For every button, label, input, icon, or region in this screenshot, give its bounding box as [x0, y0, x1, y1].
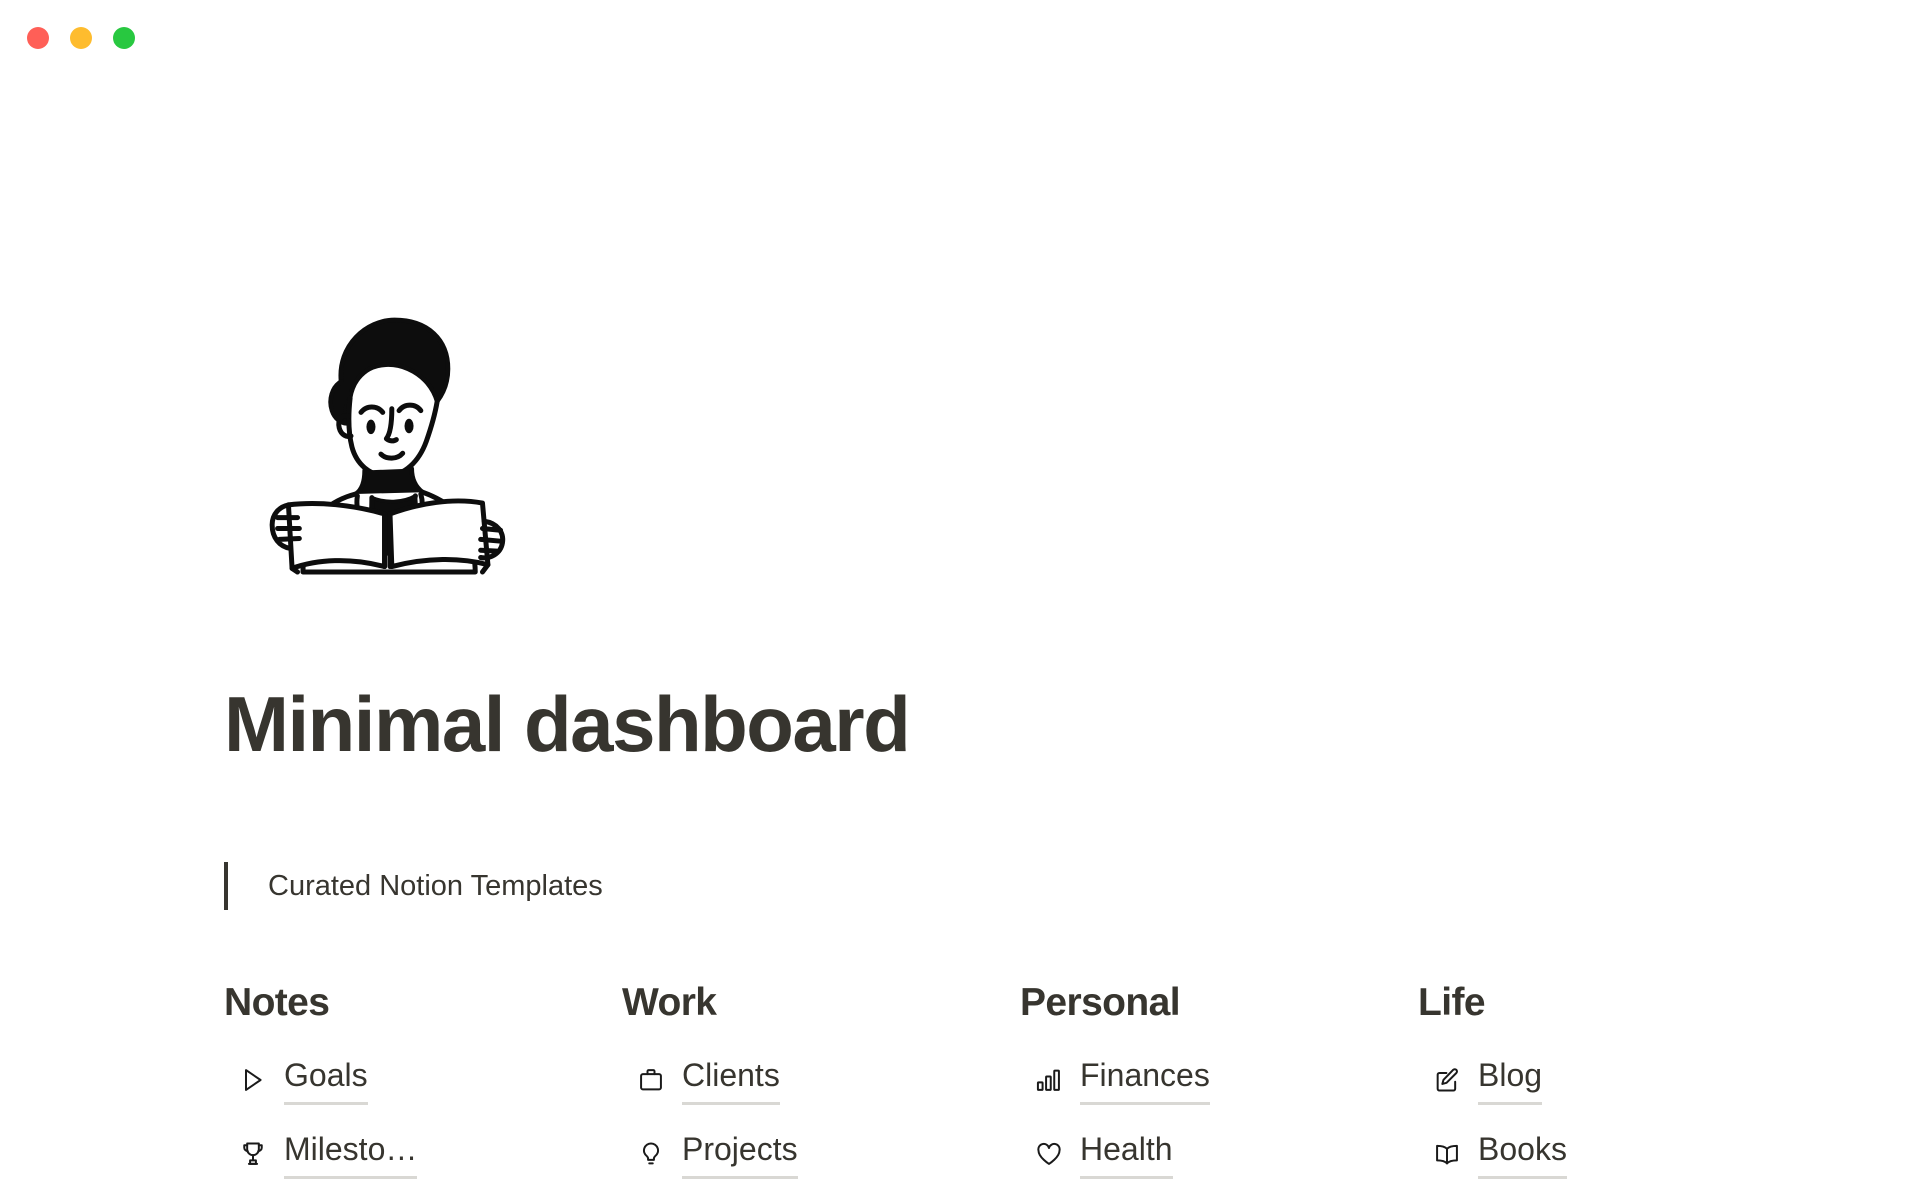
heart-icon [1032, 1137, 1066, 1171]
lightbulb-icon [634, 1137, 668, 1171]
close-window-button[interactable] [27, 27, 49, 49]
page-canvas: Minimal dashboard Curated Notion Templat… [0, 0, 1920, 1200]
trophy-icon [236, 1137, 270, 1171]
link-row-milestones[interactable]: Milesto… [236, 1129, 622, 1179]
triangle-play-icon [236, 1063, 270, 1097]
link-row-health[interactable]: Health [1032, 1129, 1418, 1179]
link-label-finances[interactable]: Finances [1080, 1055, 1210, 1105]
open-book-icon [1430, 1137, 1464, 1171]
maximize-window-button[interactable] [113, 27, 135, 49]
link-columns: Notes Goals [224, 978, 1888, 1203]
link-label-projects[interactable]: Projects [682, 1129, 798, 1179]
column-title-life: Life [1418, 978, 1816, 1028]
briefcase-icon [634, 1063, 668, 1097]
link-label-blog[interactable]: Blog [1478, 1055, 1542, 1105]
column-notes: Notes Goals [224, 978, 622, 1203]
column-personal: Personal Finances Health [1020, 978, 1418, 1203]
window-title-bar [0, 0, 1920, 74]
link-row-finances[interactable]: Finances [1032, 1055, 1418, 1105]
quote-text[interactable]: Curated Notion Templates [228, 862, 603, 910]
minimize-window-button[interactable] [70, 27, 92, 49]
link-label-goals[interactable]: Goals [284, 1055, 368, 1105]
traffic-light-controls [27, 27, 135, 49]
link-row-projects[interactable]: Projects [634, 1129, 1020, 1179]
link-label-books[interactable]: Books [1478, 1129, 1567, 1179]
link-row-books[interactable]: Books [1430, 1129, 1816, 1179]
person-reading-book-icon[interactable] [254, 292, 526, 580]
bar-chart-icon [1032, 1063, 1066, 1097]
link-label-milestones[interactable]: Milesto… [284, 1129, 417, 1179]
link-label-health[interactable]: Health [1080, 1129, 1173, 1179]
quote-block: Curated Notion Templates [224, 862, 603, 910]
page-title[interactable]: Minimal dashboard [224, 682, 909, 768]
link-row-blog[interactable]: Blog [1430, 1055, 1816, 1105]
column-life: Life Blog Books [1418, 978, 1816, 1203]
pencil-square-icon [1430, 1063, 1464, 1097]
column-work: Work Clients Projects [622, 978, 1020, 1203]
link-row-clients[interactable]: Clients [634, 1055, 1020, 1105]
column-title-personal: Personal [1020, 978, 1418, 1028]
link-row-goals[interactable]: Goals [236, 1055, 622, 1105]
column-title-notes: Notes [224, 978, 622, 1028]
link-label-clients[interactable]: Clients [682, 1055, 780, 1105]
column-title-work: Work [622, 978, 1020, 1028]
